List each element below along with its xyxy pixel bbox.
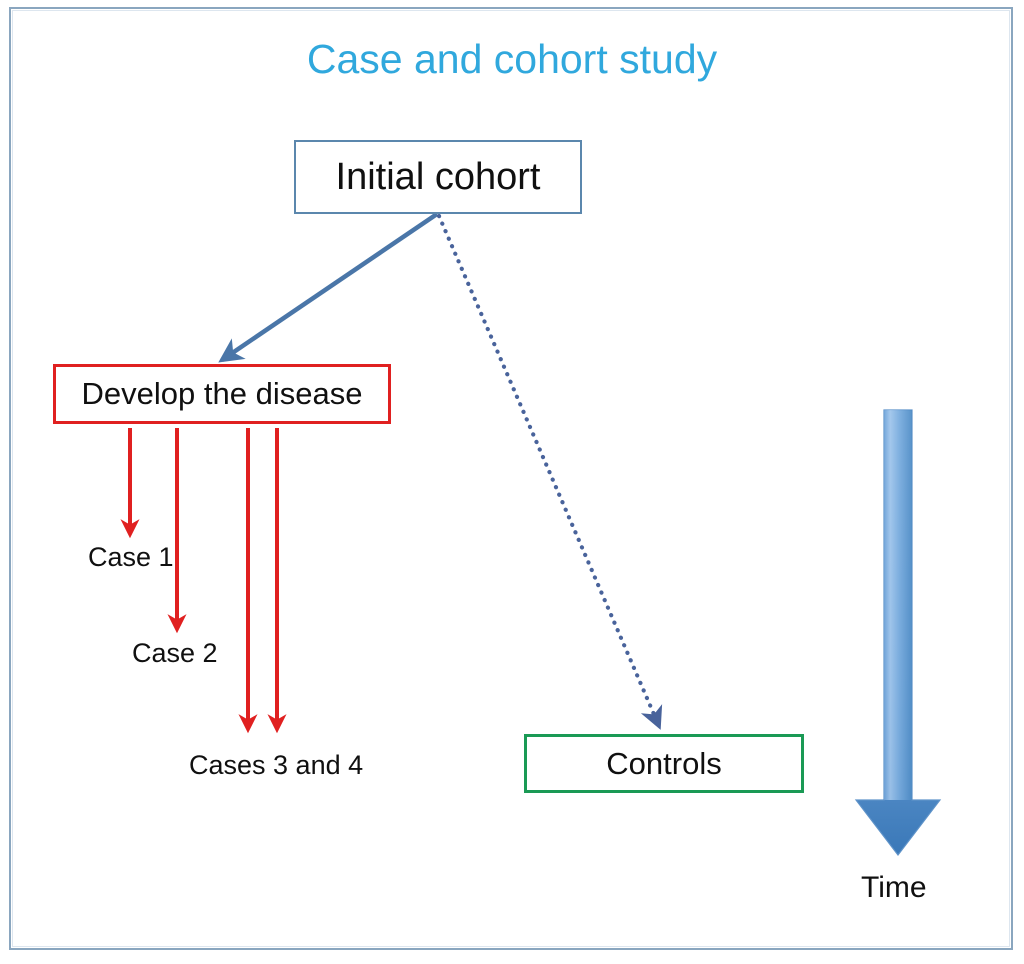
figure-title: Case and cohort study [0, 36, 1024, 83]
label-case-2: Case 2 [132, 638, 218, 669]
node-controls-label: Controls [606, 746, 721, 782]
label-time: Time [861, 871, 927, 905]
node-develop-disease[interactable]: Develop the disease [53, 364, 391, 424]
label-case-1: Case 1 [88, 542, 174, 573]
node-initial-cohort[interactable]: Initial cohort [294, 140, 582, 214]
node-controls[interactable]: Controls [524, 734, 804, 793]
figure-canvas: Case and cohort study [0, 0, 1024, 964]
node-develop-disease-label: Develop the disease [82, 376, 363, 412]
label-cases-3-and-4: Cases 3 and 4 [189, 750, 363, 781]
node-initial-cohort-label: Initial cohort [336, 156, 541, 199]
